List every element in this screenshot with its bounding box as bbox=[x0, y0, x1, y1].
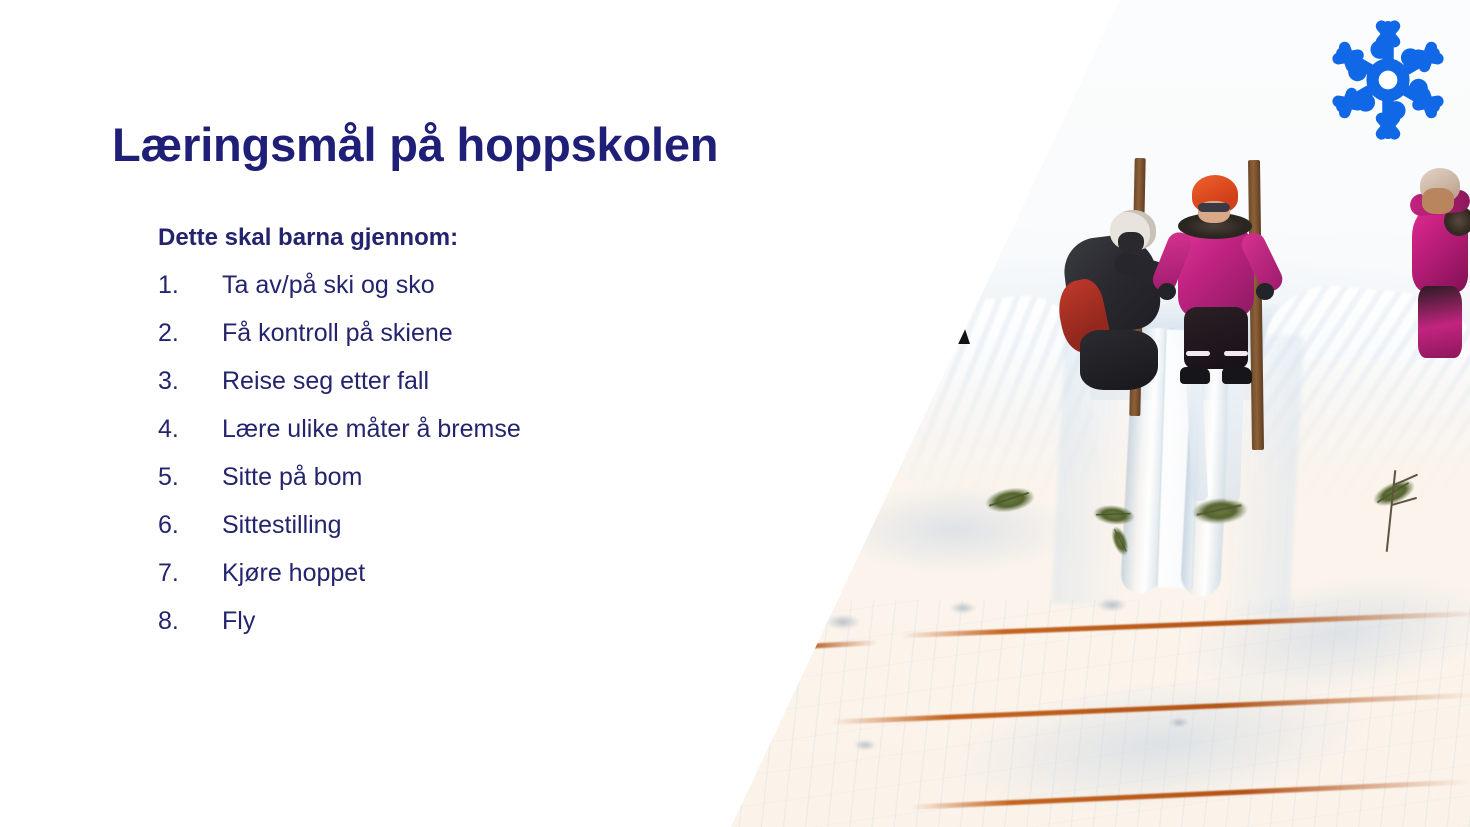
list-item-label: Fly bbox=[222, 609, 255, 634]
list-item-number: 7. bbox=[158, 561, 222, 586]
adult-face bbox=[1118, 232, 1144, 254]
list-item-number: 8. bbox=[158, 609, 222, 634]
list-item-number: 3. bbox=[158, 369, 222, 394]
child-legs bbox=[1418, 286, 1462, 358]
content-block: Dette skal barna gjennom: 1. Ta av/på sk… bbox=[158, 226, 718, 657]
list-item-label: Reise seg etter fall bbox=[222, 369, 429, 394]
list-item-label: Kjøre hoppet bbox=[222, 561, 365, 586]
list-item-label: Sittestilling bbox=[222, 513, 342, 538]
adult-legs bbox=[1080, 330, 1158, 390]
photo-edge-artifact bbox=[958, 326, 970, 344]
list-item: 5. Sitte på bom bbox=[158, 465, 718, 490]
ski-boot-right bbox=[1222, 367, 1252, 384]
list-item: 3. Reise seg etter fall bbox=[158, 369, 718, 394]
list-item-number: 4. bbox=[158, 417, 222, 442]
child-goggles bbox=[1198, 203, 1230, 212]
pants-stripe bbox=[1186, 351, 1210, 356]
list-item-label: Sitte på bom bbox=[222, 465, 362, 490]
list-item-label: Få kontroll på skiene bbox=[222, 321, 453, 346]
learning-goals-list: 1. Ta av/på ski og sko 2. Få kontroll på… bbox=[158, 273, 718, 634]
list-item: 8. Fly bbox=[158, 609, 718, 634]
list-item-number: 5. bbox=[158, 465, 222, 490]
list-item: 1. Ta av/på ski og sko bbox=[158, 273, 718, 298]
child-mitten-left bbox=[1158, 283, 1176, 300]
list-item: 7. Kjøre hoppet bbox=[158, 561, 718, 586]
child-face bbox=[1422, 188, 1454, 214]
ski-boot-left bbox=[1180, 367, 1210, 384]
list-item-label: Ta av/på ski og sko bbox=[222, 273, 435, 298]
snowflake-icon bbox=[1316, 8, 1460, 152]
slide: Læringsmål på hoppskolen Dette skal barn… bbox=[0, 0, 1470, 827]
list-item-number: 6. bbox=[158, 513, 222, 538]
list-item-number: 2. bbox=[158, 321, 222, 346]
list-item: 4. Lære ulike måter å bremse bbox=[158, 417, 718, 442]
list-item-number: 1. bbox=[158, 273, 222, 298]
child-mitten-right bbox=[1256, 283, 1274, 300]
child-pants bbox=[1184, 307, 1248, 369]
list-item: 6. Sittestilling bbox=[158, 513, 718, 538]
list-item-label: Lære ulike måter å bremse bbox=[222, 417, 521, 442]
pants-stripe bbox=[1224, 351, 1248, 356]
list-item: 2. Få kontroll på skiene bbox=[158, 321, 718, 346]
page-title: Læringsmål på hoppskolen bbox=[112, 119, 718, 172]
child-skier-figure bbox=[1158, 175, 1276, 375]
lead-in-text: Dette skal barna gjennom: bbox=[158, 226, 718, 250]
child-standing-figure bbox=[1400, 168, 1470, 360]
